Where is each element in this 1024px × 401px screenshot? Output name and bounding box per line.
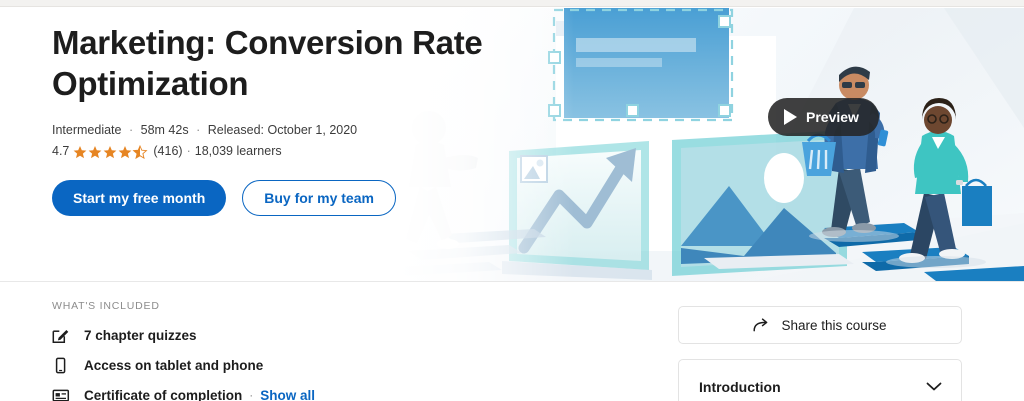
share-course-button[interactable]: Share this course bbox=[678, 306, 962, 344]
rating-value: 4.7 bbox=[52, 143, 69, 160]
hero-section: Marketing: Conversion Rate Optimization … bbox=[0, 8, 1024, 281]
course-meta: Intermediate · 58m 42s · Released: Octob… bbox=[52, 122, 522, 139]
buy-for-team-button[interactable]: Buy for my team bbox=[242, 180, 396, 216]
share-arrow-icon bbox=[753, 317, 771, 333]
course-level: Intermediate bbox=[52, 123, 121, 137]
toc-section-title: Introduction bbox=[699, 379, 925, 395]
feature-label: Certificate of completion bbox=[84, 388, 242, 401]
browser-chrome-strip bbox=[0, 0, 1024, 7]
feature-label: Access on tablet and phone bbox=[84, 358, 263, 373]
meta-separator: · bbox=[125, 123, 137, 137]
learner-count: 18,039 learners bbox=[195, 143, 282, 160]
whats-included-block: WHAT'S INCLUDED 7 chapter quizzes bbox=[52, 300, 472, 401]
star-rating-icons bbox=[73, 145, 149, 159]
certificate-icon bbox=[52, 385, 74, 401]
quiz-edit-icon bbox=[52, 325, 74, 345]
show-all-link[interactable]: Show all bbox=[260, 388, 315, 401]
preview-button[interactable]: Preview bbox=[768, 98, 879, 136]
right-column: Share this course Introduction bbox=[678, 306, 962, 401]
rating-count: (416) bbox=[153, 143, 182, 160]
meta-separator: · bbox=[192, 123, 204, 137]
meta-separator: · bbox=[183, 143, 195, 160]
play-icon bbox=[784, 109, 797, 125]
whats-included-heading: WHAT'S INCLUDED bbox=[52, 300, 472, 312]
list-item: 7 chapter quizzes bbox=[52, 322, 472, 348]
feature-label: 7 chapter quizzes bbox=[84, 328, 197, 343]
page-title: Marketing: Conversion Rate Optimization bbox=[52, 22, 522, 104]
course-page: Marketing: Conversion Rate Optimization … bbox=[0, 0, 1024, 401]
course-release-date: Released: October 1, 2020 bbox=[208, 123, 357, 137]
preview-label: Preview bbox=[806, 109, 859, 125]
share-course-label: Share this course bbox=[781, 318, 886, 333]
cta-row: Start my free month Buy for my team bbox=[52, 180, 522, 216]
list-item: Certificate of completion · Show all bbox=[52, 382, 472, 401]
start-free-month-button[interactable]: Start my free month bbox=[52, 180, 226, 216]
details-section: WHAT'S INCLUDED 7 chapter quizzes bbox=[0, 282, 1024, 401]
course-rating: 4.7 bbox=[52, 143, 522, 160]
toc-section-introduction[interactable]: Introduction bbox=[678, 359, 962, 401]
course-duration: 58m 42s bbox=[141, 123, 189, 137]
mobile-phone-icon bbox=[52, 355, 74, 375]
hero-copy: Marketing: Conversion Rate Optimization … bbox=[52, 22, 522, 216]
chevron-down-icon[interactable] bbox=[925, 378, 943, 396]
list-item: Access on tablet and phone bbox=[52, 352, 472, 378]
feature-separator: · bbox=[242, 388, 260, 401]
